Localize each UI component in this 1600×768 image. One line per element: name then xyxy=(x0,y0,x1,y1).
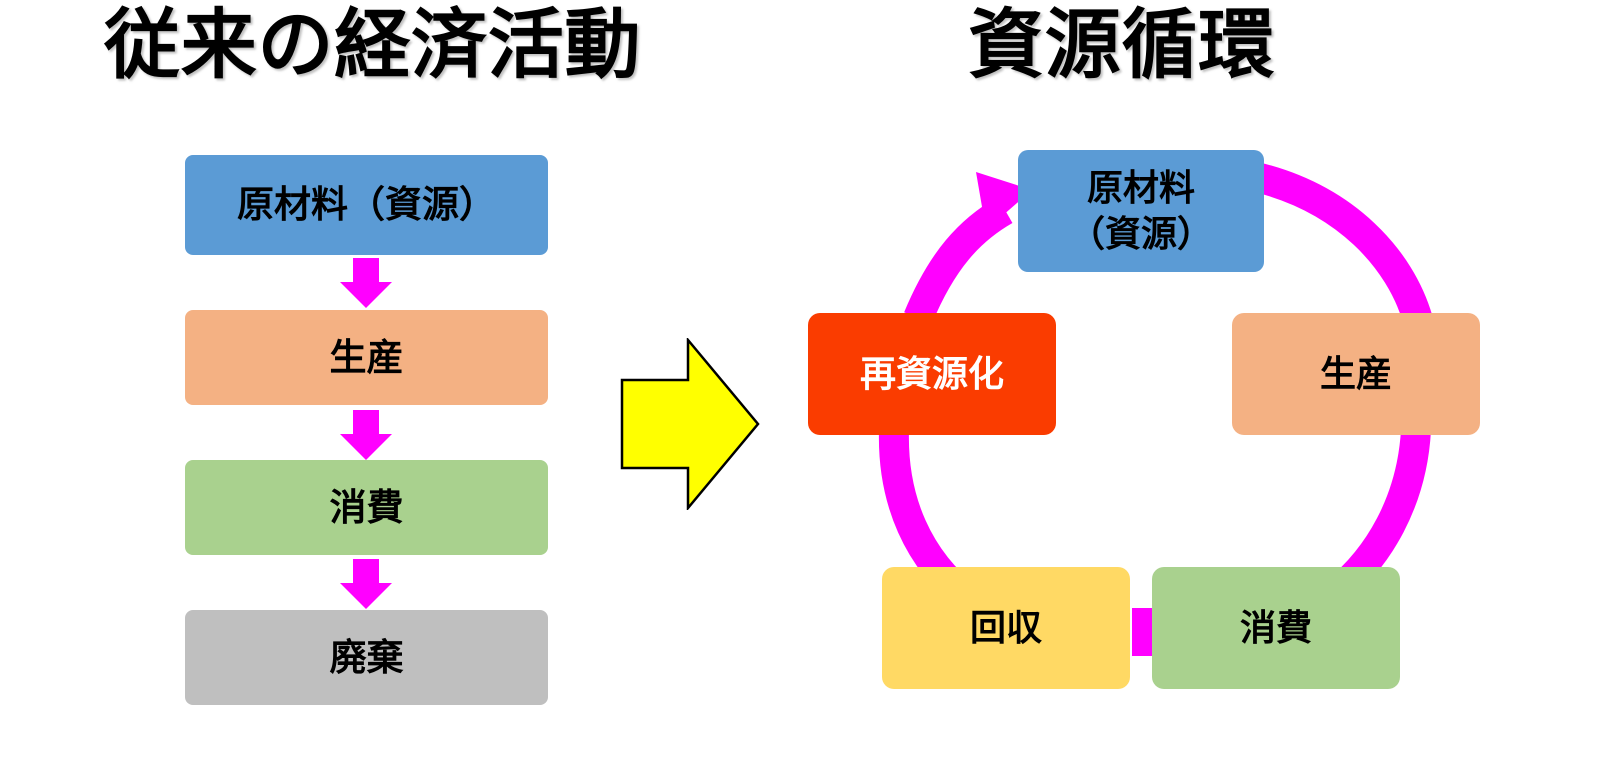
cycle-connector-collection-consumption xyxy=(1132,608,1152,656)
arc-recycling-to-material xyxy=(918,210,1005,318)
diagram-canvas: 従来の経済活動 資源循環 原材料（資源） 生産 消費 廃棄 原材料 xyxy=(0,0,1600,768)
cycle-node-recycling: 再資源化 xyxy=(808,313,1056,435)
right-section-title: 資源循環 xyxy=(968,8,1275,84)
cycle-node-collection: 回収 xyxy=(882,567,1130,689)
cycle-node-production: 生産 xyxy=(1232,313,1480,435)
cycle-node-material-line2: （資源） xyxy=(1069,211,1213,257)
arc-material-to-production xyxy=(1260,178,1418,320)
left-section-title: 従来の経済活動 xyxy=(104,8,641,84)
linear-step-disposal: 廃棄 xyxy=(185,610,548,705)
linear-step-material: 原材料（資源） xyxy=(185,155,548,255)
right-block-arrow-icon xyxy=(620,338,760,510)
cycle-node-material-line1: 原材料 xyxy=(1087,165,1195,211)
cycle-node-material: 原材料 （資源） xyxy=(1018,150,1264,272)
down-arrow-icon xyxy=(340,258,392,308)
resource-cycle-diagram: 原材料 （資源） 生産 消費 回収 再資源化 xyxy=(800,130,1480,740)
linear-step-production: 生産 xyxy=(185,310,548,405)
down-arrow-icon xyxy=(340,559,392,609)
down-arrow-icon xyxy=(340,410,392,460)
linear-step-consumption: 消費 xyxy=(185,460,548,555)
cycle-node-consumption: 消費 xyxy=(1152,567,1400,689)
